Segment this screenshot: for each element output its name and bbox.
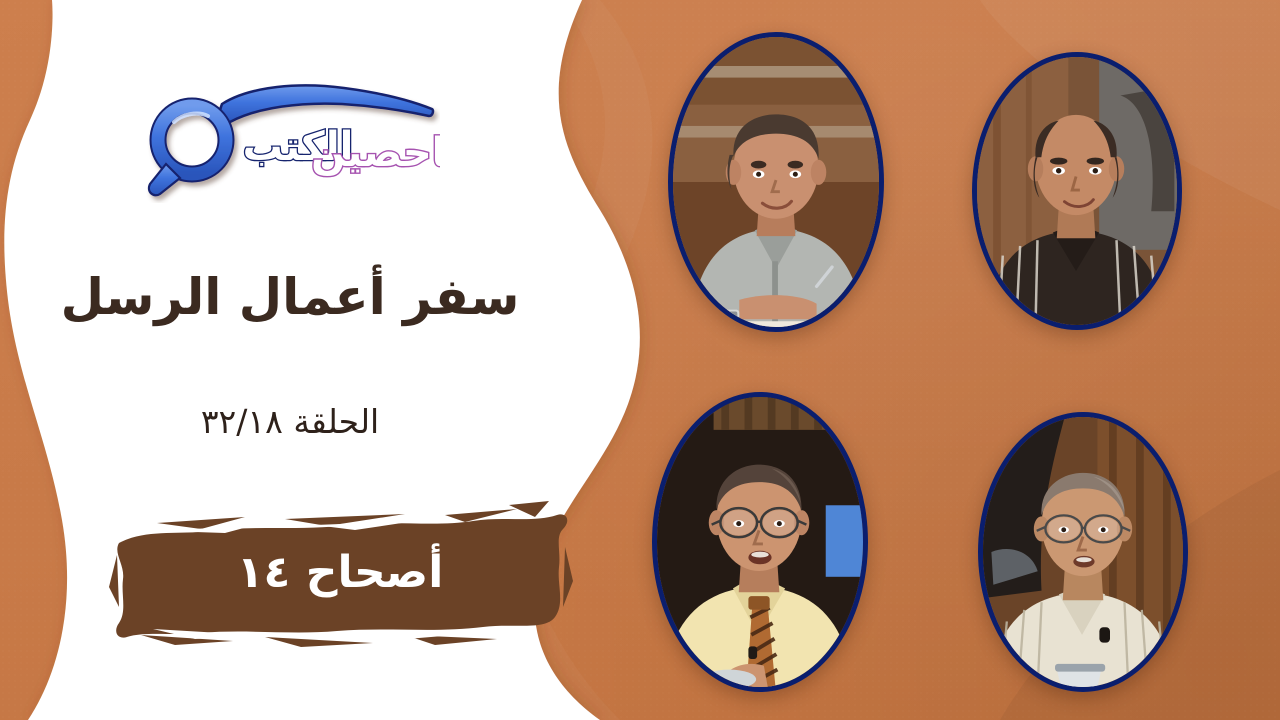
participant-2-portrait [977, 57, 1177, 325]
logo-script: الكتب فاحصين [243, 124, 440, 176]
program-logo[interactable]: الكتب فاحصين [130, 78, 440, 203]
participant-4-portrait [983, 417, 1183, 687]
participant-1-portrait [673, 37, 879, 327]
chapter-banner[interactable]: أصحاح ١٤ [105, 495, 575, 655]
participant-3-portrait [657, 397, 863, 687]
participant-photo-4[interactable] [978, 412, 1188, 692]
episode-label: الحلقة ٣٢/١٨ [0, 402, 580, 441]
svg-text:فاحصين: فاحصين [311, 130, 440, 176]
participant-photo-2[interactable] [972, 52, 1182, 330]
left-content-column: الكتب فاحصين سفر أعمال الرسل الحلقة ٣٢/١… [0, 0, 590, 720]
participant-photo-1[interactable] [668, 32, 884, 332]
title-card: الكتب فاحصين سفر أعمال الرسل الحلقة ٣٢/١… [0, 0, 1280, 720]
page-title: سفر أعمال الرسل [0, 270, 580, 325]
participant-photo-3[interactable] [652, 392, 868, 692]
chapter-label: أصحاح ١٤ [105, 495, 575, 655]
